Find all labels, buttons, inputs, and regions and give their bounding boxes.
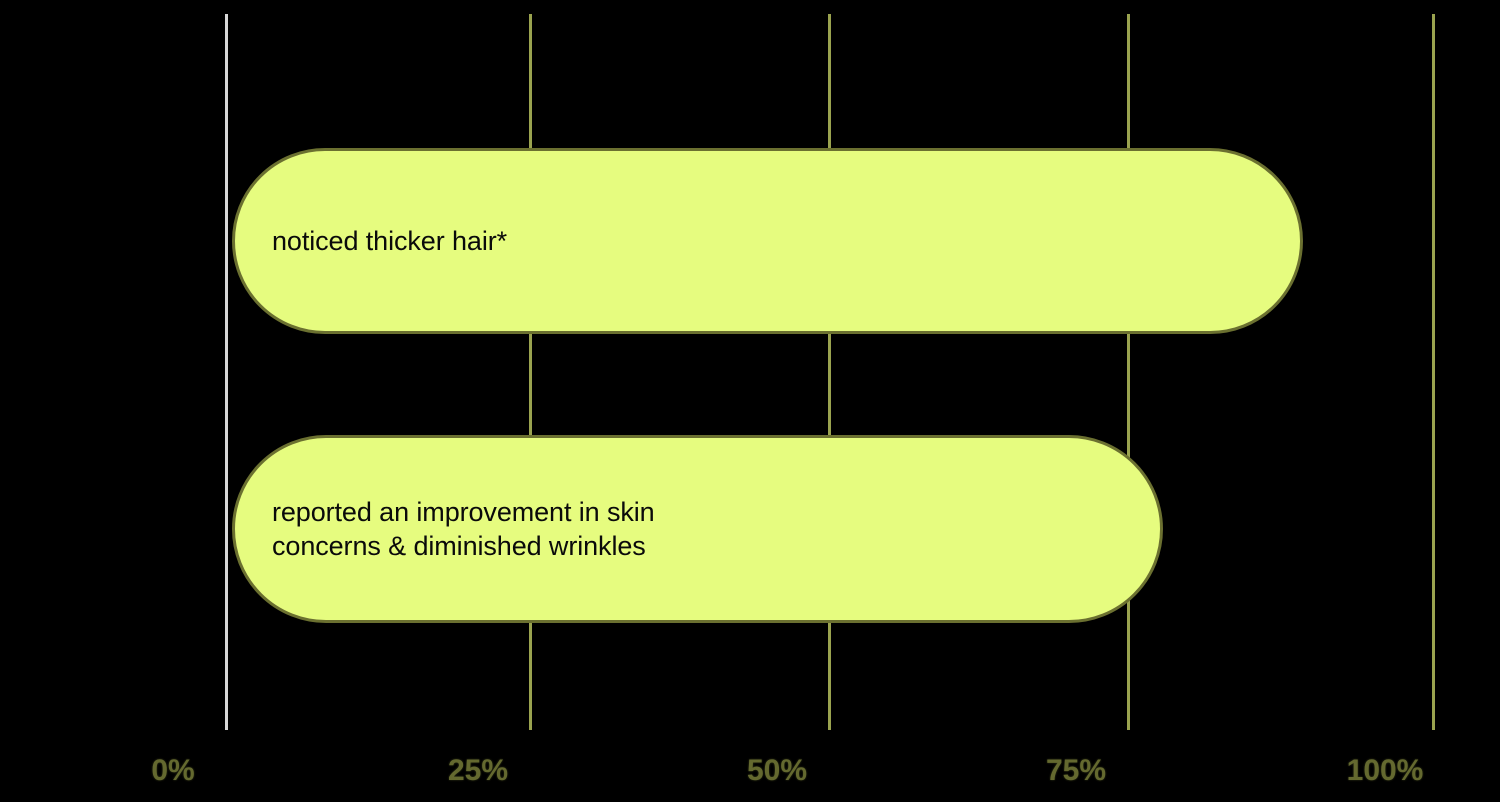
bar-chart: noticed thicker hair* reported an improv…: [0, 0, 1500, 802]
x-tick-label-50: 50%: [747, 754, 807, 788]
gridline-100: [1432, 14, 1435, 730]
x-tick-label-0: 0%: [151, 754, 194, 788]
bar-noticed-thicker-hair: noticed thicker hair*: [232, 148, 1303, 334]
x-tick-label-25: 25%: [448, 754, 508, 788]
x-tick-label-75: 75%: [1046, 754, 1106, 788]
x-tick-label-100: 100%: [1347, 754, 1424, 788]
bar-improvement-in-skin-concerns: reported an improvement in skin concerns…: [232, 435, 1163, 623]
bar-label: reported an improvement in skin concerns…: [235, 495, 655, 563]
bar-label: noticed thicker hair*: [235, 224, 507, 258]
plot-area: noticed thicker hair* reported an improv…: [0, 0, 1500, 740]
gridline-0: [225, 14, 228, 730]
x-axis: 0% 25% 50% 75% 100%: [0, 740, 1500, 802]
gridline-75: [1127, 14, 1130, 730]
